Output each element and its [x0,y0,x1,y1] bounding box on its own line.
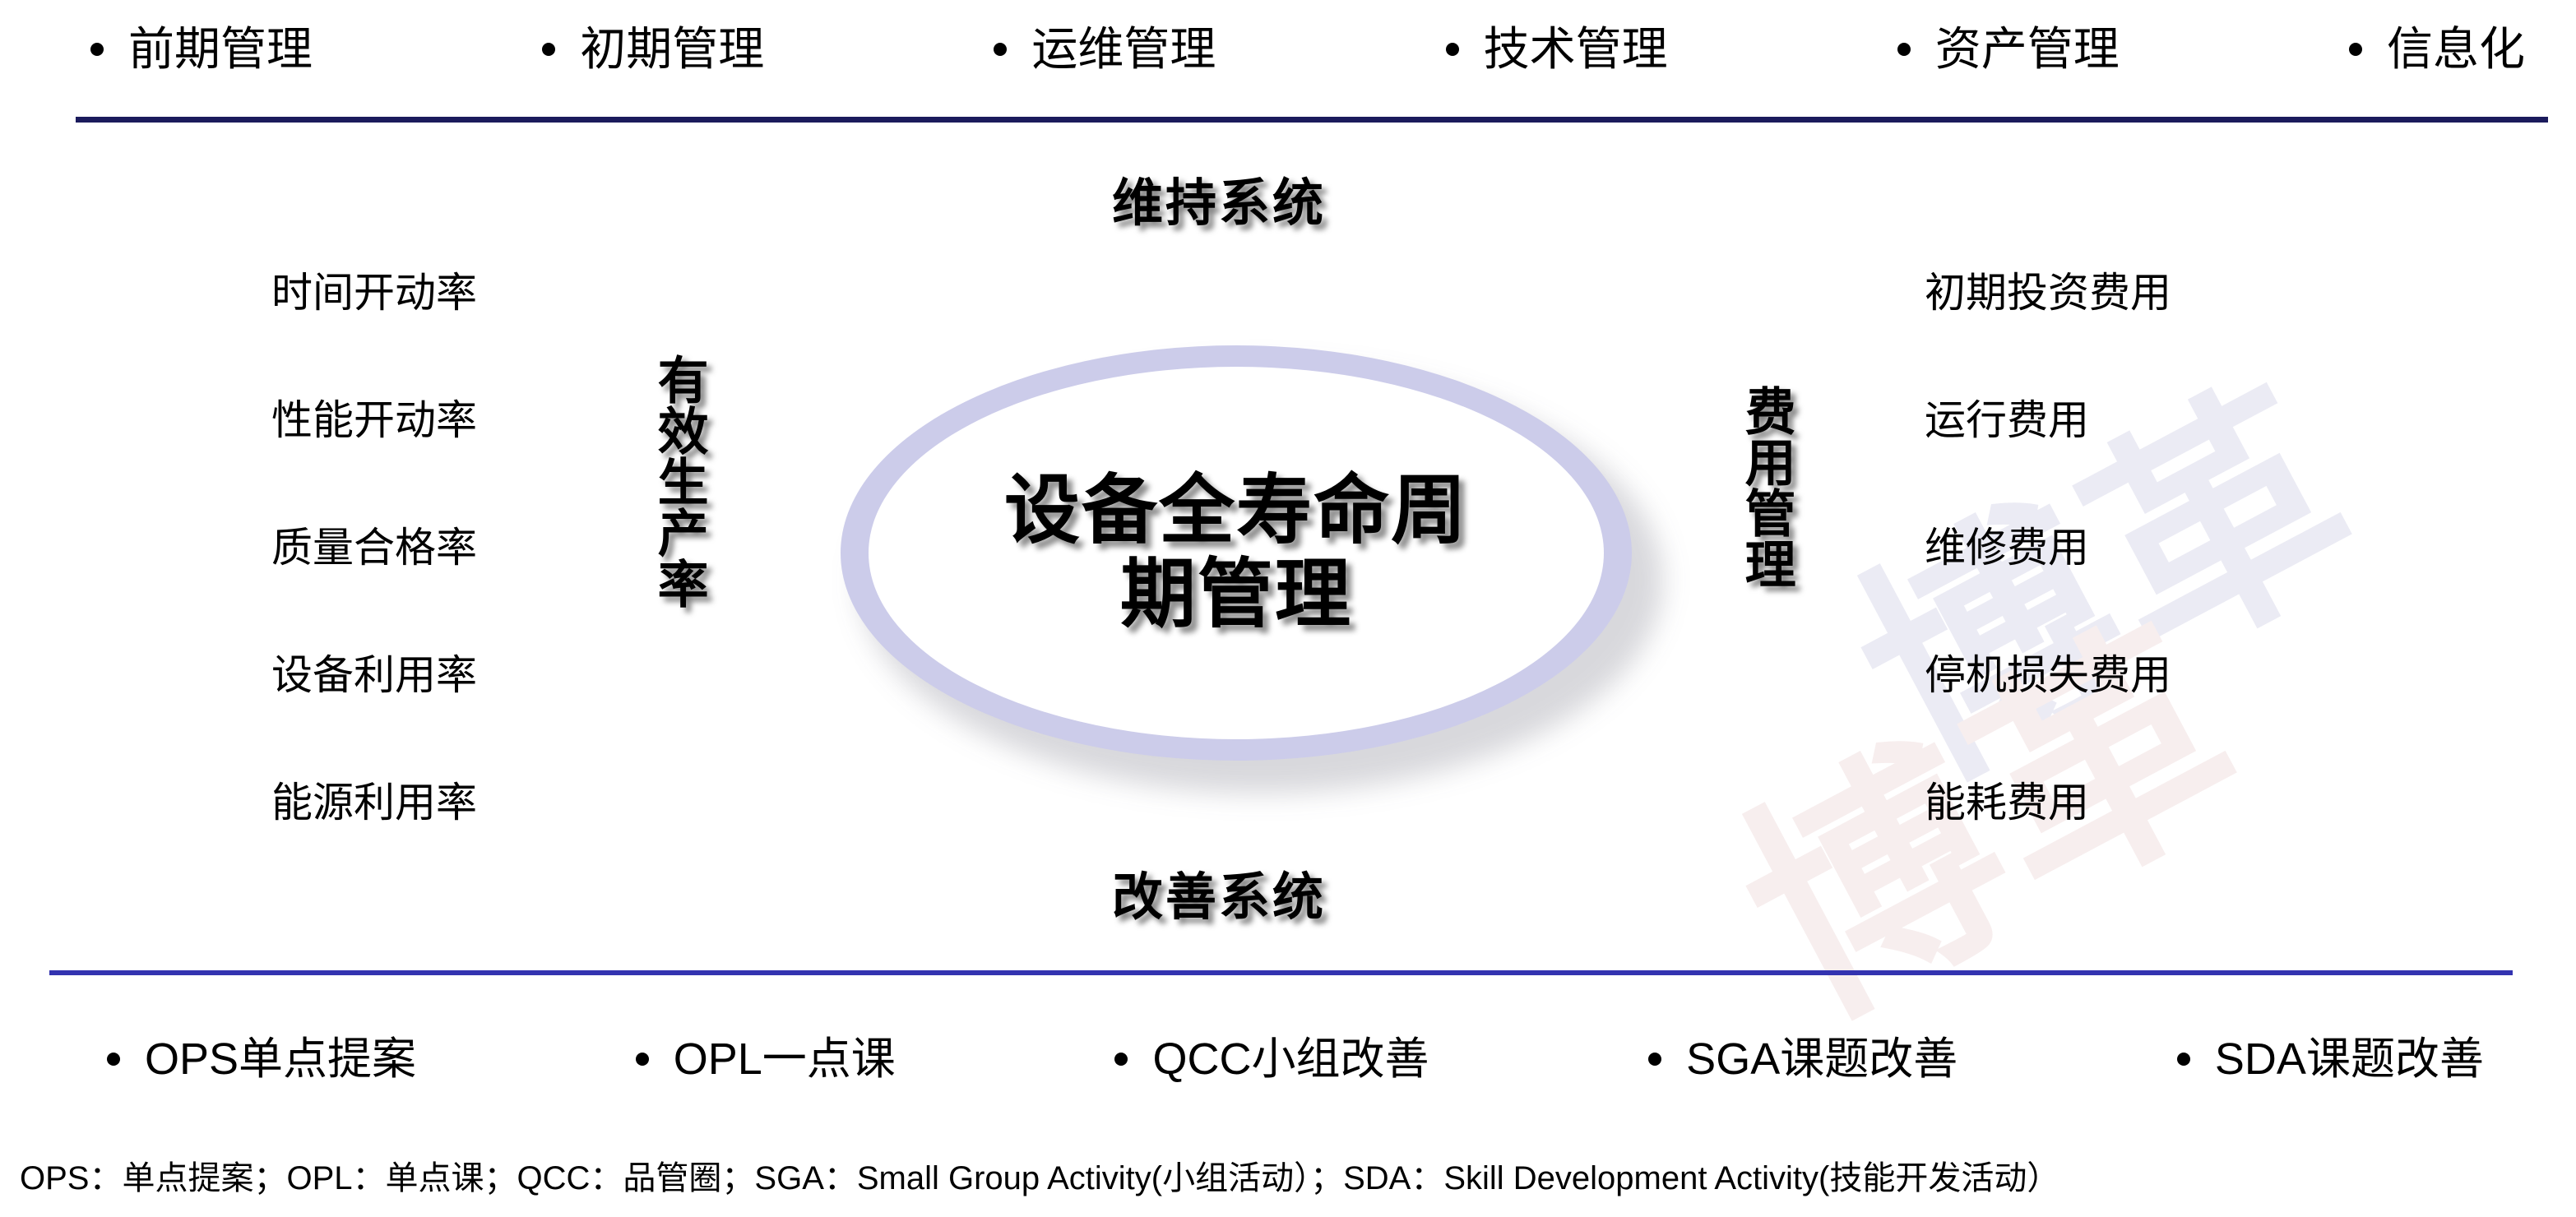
bottom-bullet-item-4[interactable]: SGA课题改善 [1648,1037,1957,1081]
list-item: 能源利用率 [271,781,551,909]
top-bullet-label: 初期管理 [580,26,764,72]
top-bullet-label: 运维管理 [1031,26,1216,72]
heading-effective-productivity: 有效生产率 [646,354,709,608]
bullet-dot-icon [1648,1053,1661,1066]
list-item: 能耗费用 [1925,781,2270,909]
left-metric-list: 时间开动率 性能开动率 质量合格率 设备利用率 能源利用率 [271,271,551,909]
list-item: 时间开动率 [271,271,551,399]
bottom-bullet-item-3[interactable]: QCC小组改善 [1114,1037,1429,1081]
bottom-bullet-label: QCC小组改善 [1152,1037,1429,1081]
bottom-bullet-item-1[interactable]: OPS单点提案 [107,1037,416,1081]
bullet-dot-icon [90,43,104,56]
top-bullet-item-2[interactable]: 初期管理 [542,26,764,72]
footer-abbreviation-note: OPS：单点提案；OPL：单点课；QCC：品管圈；SGA：Small Group… [20,1151,2059,1199]
bullet-dot-icon [1446,43,1459,56]
list-item: 停机损失费用 [1925,654,2270,781]
bullet-dot-icon [994,43,1007,56]
right-metric-list: 初期投资费用 运行费用 维修费用 停机损失费用 能耗费用 [1925,271,2270,909]
heading-maintenance-system: 维持系统 [1112,161,1326,235]
heading-cost-management: 费用管理 [1734,385,1796,589]
bullet-dot-icon [1897,43,1911,56]
top-bullet-item-4[interactable]: 技术管理 [1446,26,1668,72]
top-bullet-label: 信息化 [2387,26,2525,72]
list-item: 维修费用 [1925,526,2270,654]
top-bullet-label: 资产管理 [1935,26,2120,72]
list-item: 初期投资费用 [1925,271,2270,399]
slide-canvas: 博革 博革 前期管理 初期管理 运维管理 技术管理 资产管理 信息化 [0,0,2576,1217]
bullet-dot-icon [2349,43,2362,56]
bottom-bullet-label: OPS单点提案 [145,1037,416,1081]
bottom-bullet-label: OPL一点课 [674,1037,896,1081]
list-item: 质量合格率 [271,526,551,654]
heading-improvement-system: 改善系统 [1112,855,1326,929]
bottom-bullet-item-5[interactable]: SDA课题改善 [2177,1037,2484,1081]
top-bullet-item-1[interactable]: 前期管理 [90,26,313,72]
center-ellipse: 设备全寿命周 期管理 [841,345,1663,794]
center-title-line-2: 期管理 [1004,553,1468,636]
divider-top [76,117,2548,123]
bullet-dot-icon [542,43,555,56]
top-bullet-item-5[interactable]: 资产管理 [1897,26,2120,72]
bullet-dot-icon [2177,1053,2190,1066]
bottom-bullet-label: SDA课题改善 [2215,1037,2484,1081]
list-item: 设备利用率 [271,654,551,781]
top-bullet-label: 前期管理 [128,26,313,72]
ellipse-inner: 设备全寿命周 期管理 [869,367,1604,739]
list-item: 运行费用 [1925,399,2270,526]
list-item: 性能开动率 [271,399,551,526]
top-bullet-item-6[interactable]: 信息化 [2349,26,2525,72]
top-bullet-item-3[interactable]: 运维管理 [994,26,1216,72]
bottom-bullet-label: SGA课题改善 [1686,1037,1957,1081]
bullet-dot-icon [636,1053,649,1066]
divider-bottom [49,970,2513,975]
center-title: 设备全寿命周 期管理 [1004,470,1468,636]
bullet-dot-icon [107,1053,120,1066]
bottom-bullet-item-2[interactable]: OPL一点课 [636,1037,896,1081]
bullet-dot-icon [1114,1053,1128,1066]
top-bullet-label: 技术管理 [1484,26,1668,72]
bottom-bullet-row: OPS单点提案 OPL一点课 QCC小组改善 SGA课题改善 SDA课题改善 [107,1018,2484,1100]
top-bullet-row: 前期管理 初期管理 运维管理 技术管理 资产管理 信息化 [90,8,2525,90]
center-title-line-1: 设备全寿命周 [1004,470,1468,553]
